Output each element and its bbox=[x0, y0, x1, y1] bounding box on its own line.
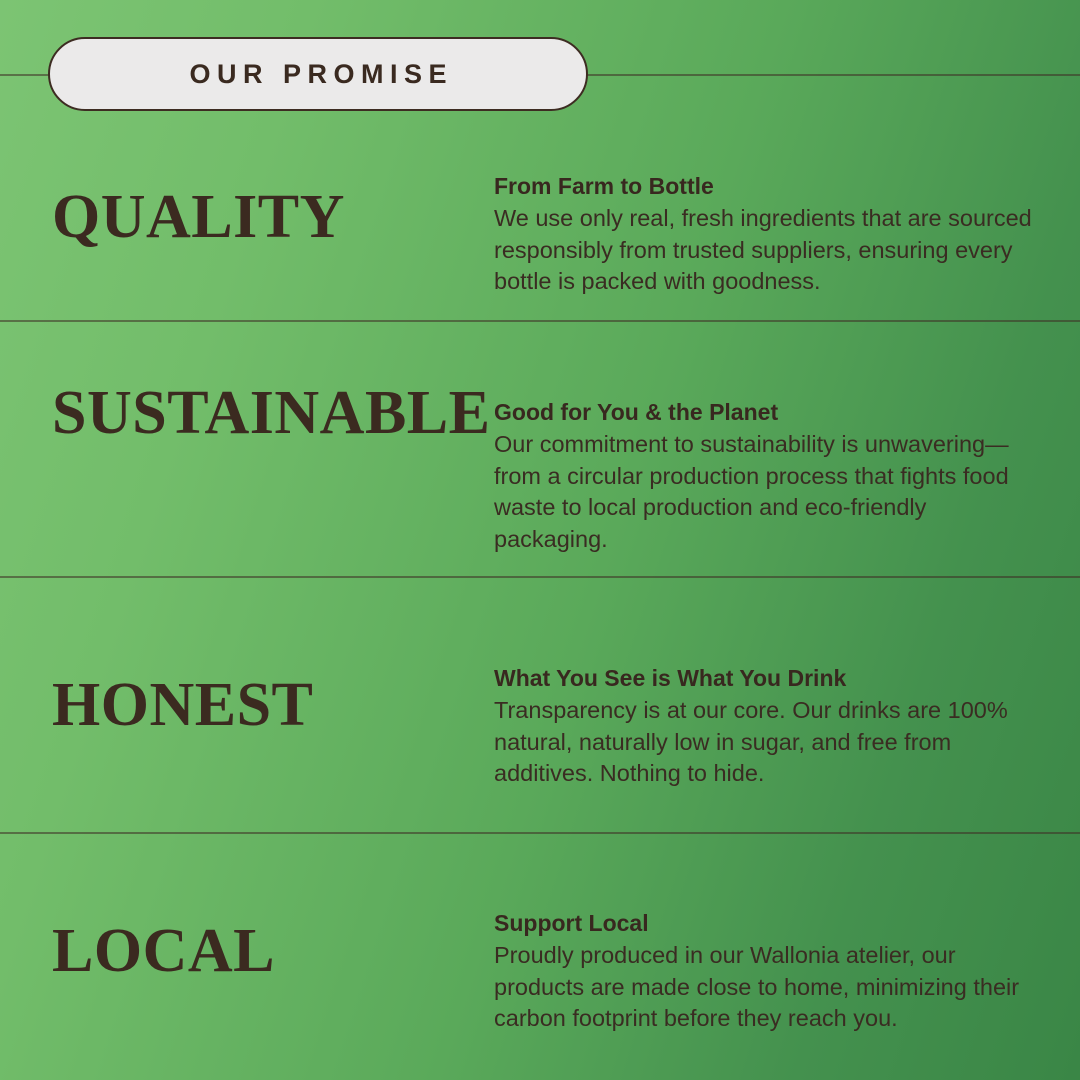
promise-body-honest: What You See is What You Drink Transpare… bbox=[494, 663, 1034, 790]
our-promise-badge: OUR PROMISE bbox=[48, 37, 588, 111]
promise-body-quality: From Farm to Bottle We use only real, fr… bbox=[494, 171, 1034, 298]
promise-body-local: Support Local Proudly produced in our Wa… bbox=[494, 908, 1034, 1035]
promise-poster: OUR PROMISE QUALITY From Farm to Bottle … bbox=[0, 0, 1080, 1080]
our-promise-badge-label: OUR PROMISE bbox=[183, 59, 453, 90]
promise-title-quality: QUALITY bbox=[52, 186, 345, 248]
promise-description-quality: We use only real, fresh ingredients that… bbox=[494, 203, 1034, 298]
promise-description-sustainable: Our commitment to sustainability is unwa… bbox=[494, 429, 1034, 555]
promise-title-local: LOCAL bbox=[52, 920, 275, 982]
promise-title-sustainable: SUSTAINABLE bbox=[52, 382, 491, 444]
section-divider-sustainable-honest bbox=[0, 576, 1080, 578]
promise-title-honest: HONEST bbox=[52, 674, 313, 736]
promise-subtitle-quality: From Farm to Bottle bbox=[494, 171, 1034, 202]
section-divider-quality-sustainable bbox=[0, 320, 1080, 322]
promise-subtitle-honest: What You See is What You Drink bbox=[494, 663, 1034, 694]
promise-subtitle-sustainable: Good for You & the Planet bbox=[494, 397, 1034, 428]
promise-description-local: Proudly produced in our Wallonia atelier… bbox=[494, 940, 1034, 1035]
promise-subtitle-local: Support Local bbox=[494, 908, 1034, 939]
promise-description-honest: Transparency is at our core. Our drinks … bbox=[494, 695, 1034, 790]
section-divider-honest-local bbox=[0, 832, 1080, 834]
promise-body-sustainable: Good for You & the Planet Our commitment… bbox=[494, 397, 1034, 556]
